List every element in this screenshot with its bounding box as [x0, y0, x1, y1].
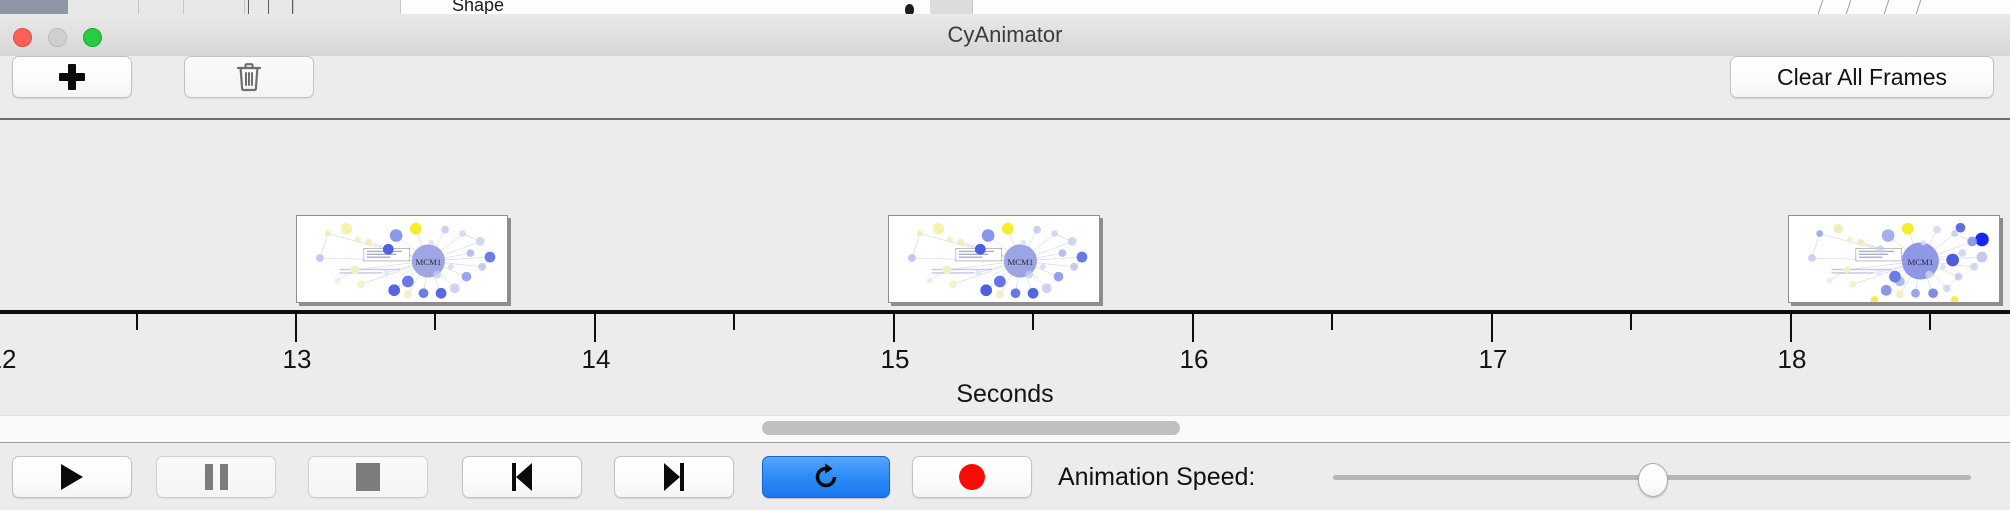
- axis-tick-minor: [733, 314, 735, 330]
- axis-tick-label: 17: [1479, 344, 1508, 375]
- loop-icon: [811, 462, 841, 492]
- window-title: CyAnimator: [0, 14, 2010, 56]
- axis-tick-major: [1192, 314, 1194, 342]
- background-slash: [1884, 0, 1890, 14]
- background-active-tab: [0, 0, 68, 14]
- axis-tick-major: [594, 314, 596, 342]
- close-button[interactable]: [13, 28, 32, 47]
- axis-tick-major: [295, 314, 297, 342]
- axis-tick-label: 13: [283, 344, 312, 375]
- background-slash: [1846, 0, 1852, 14]
- axis-tick-major: [1491, 314, 1493, 342]
- axis-tick-minor: [1929, 314, 1931, 330]
- stop-button[interactable]: [308, 456, 428, 498]
- plus-icon: [59, 64, 85, 90]
- stop-icon: [356, 463, 380, 491]
- axis-tick-label: 14: [582, 344, 611, 375]
- axis-tick-label: 18: [1778, 344, 1807, 375]
- play-icon: [61, 464, 83, 490]
- frame-thumbnail[interactable]: MCM1: [1788, 215, 2000, 303]
- background-tick: [248, 0, 249, 14]
- timeline-axis: [0, 310, 2010, 314]
- clear-all-frames-button[interactable]: Clear All Frames: [1730, 56, 1994, 98]
- previous-frame-button[interactable]: [462, 456, 582, 498]
- axis-tick-minor: [434, 314, 436, 330]
- play-button[interactable]: [12, 456, 132, 498]
- background-segment: [139, 0, 184, 14]
- animation-speed-slider-thumb[interactable]: [1638, 463, 1668, 497]
- axis-tick-minor: [1331, 314, 1333, 330]
- skip-next-icon: [661, 463, 687, 491]
- add-frame-button[interactable]: [12, 56, 132, 98]
- pause-button[interactable]: [156, 456, 276, 498]
- background-segment: [68, 0, 139, 14]
- background-window-strip: Shape: [0, 0, 2010, 15]
- record-icon: [959, 464, 985, 490]
- title-bar: CyAnimator: [0, 14, 2010, 57]
- background-shape-label: Shape: [452, 0, 504, 15]
- axis-tick-label: 12: [0, 344, 16, 375]
- background-segment: [930, 0, 973, 14]
- background-segment: [184, 0, 245, 14]
- axis-tick-minor: [1032, 314, 1034, 330]
- network-preview-image: MCM1: [297, 216, 507, 302]
- axis-tick-major: [1790, 314, 1792, 342]
- timeline-scrollbar-thumb[interactable]: [762, 421, 1180, 435]
- trash-icon: [236, 62, 262, 92]
- svg-text:MCM1: MCM1: [1907, 257, 1933, 267]
- network-preview-image: MCM1: [889, 216, 1099, 302]
- background-segment: [245, 0, 294, 14]
- background-tick: [292, 0, 293, 14]
- network-preview-image: MCM1: [1789, 216, 1999, 302]
- animation-speed-label: Animation Speed:: [1058, 456, 1255, 498]
- axis-tick-major: [893, 314, 895, 342]
- skip-previous-icon: [509, 463, 535, 491]
- cyanimator-window: Shape CyAnimator Clear All Frames: [0, 0, 2010, 510]
- axis-tick-minor: [136, 314, 138, 330]
- frame-thumbnail[interactable]: MCM1: [888, 215, 1100, 303]
- timeline-panel[interactable]: MCM1: [0, 120, 2010, 415]
- axis-tick-label: 15: [881, 344, 910, 375]
- axis-tick-minor: [1630, 314, 1632, 330]
- delete-frame-button[interactable]: [184, 56, 314, 98]
- svg-text:MCM1: MCM1: [1007, 257, 1033, 267]
- background-slash: [1916, 0, 1922, 14]
- background-slash: [1818, 0, 1824, 14]
- axis-title: Seconds: [0, 380, 2010, 409]
- axis-tick-label: 16: [1180, 344, 1209, 375]
- minimize-button[interactable]: [48, 28, 67, 47]
- pause-icon: [205, 464, 228, 490]
- background-tick: [268, 0, 269, 14]
- frame-thumbnail[interactable]: MCM1: [296, 215, 508, 303]
- background-segment: [294, 0, 401, 14]
- next-frame-button[interactable]: [614, 456, 734, 498]
- maximize-button[interactable]: [83, 28, 102, 47]
- svg-text:MCM1: MCM1: [415, 257, 441, 267]
- loop-button[interactable]: [762, 456, 890, 498]
- record-button[interactable]: [912, 456, 1032, 498]
